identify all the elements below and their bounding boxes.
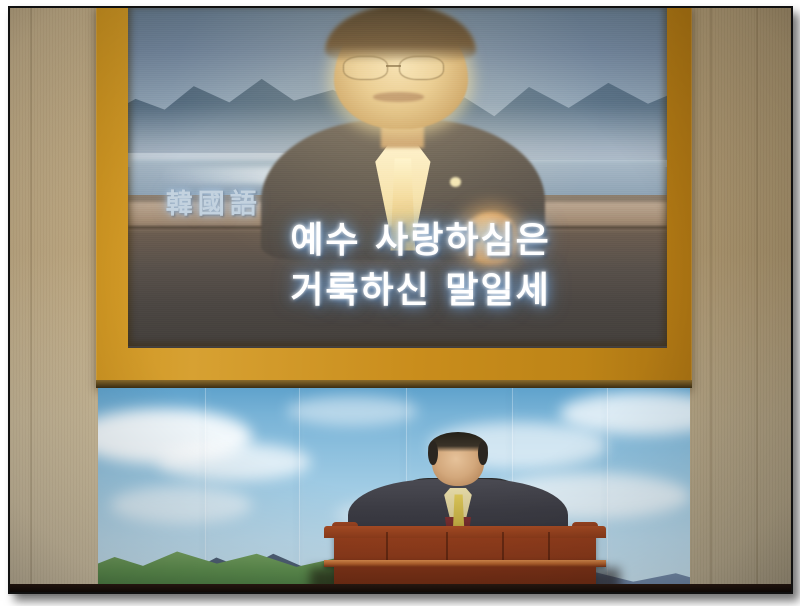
banner-fold: [607, 388, 608, 592]
podium-ledge: [324, 560, 606, 567]
wall-seam: [710, 8, 712, 592]
cloud: [110, 486, 252, 524]
speaker-hair-side-right: [478, 441, 488, 466]
stage-floor-shadow: [10, 584, 791, 592]
photograph: 韓國語 예수 사랑하심은 거룩하신 말일세: [10, 8, 791, 592]
wall-seam: [30, 8, 32, 592]
wall-seam: [756, 8, 758, 592]
screen-frame-inner-shadow: [128, 8, 667, 346]
banner-fold: [299, 388, 300, 592]
podium-top-rail: [324, 526, 606, 538]
banner-rail: [96, 380, 692, 388]
photo-outer-frame: 韓國語 예수 사랑하심은 거룩하신 말일세: [0, 0, 800, 606]
projection-screen-frame: 韓國語 예수 사랑하심은 거룩하신 말일세: [96, 8, 692, 386]
speaker-hair-side-left: [428, 441, 438, 466]
cloud: [157, 443, 311, 481]
cloud: [287, 396, 417, 426]
wooden-podium: [334, 532, 596, 592]
